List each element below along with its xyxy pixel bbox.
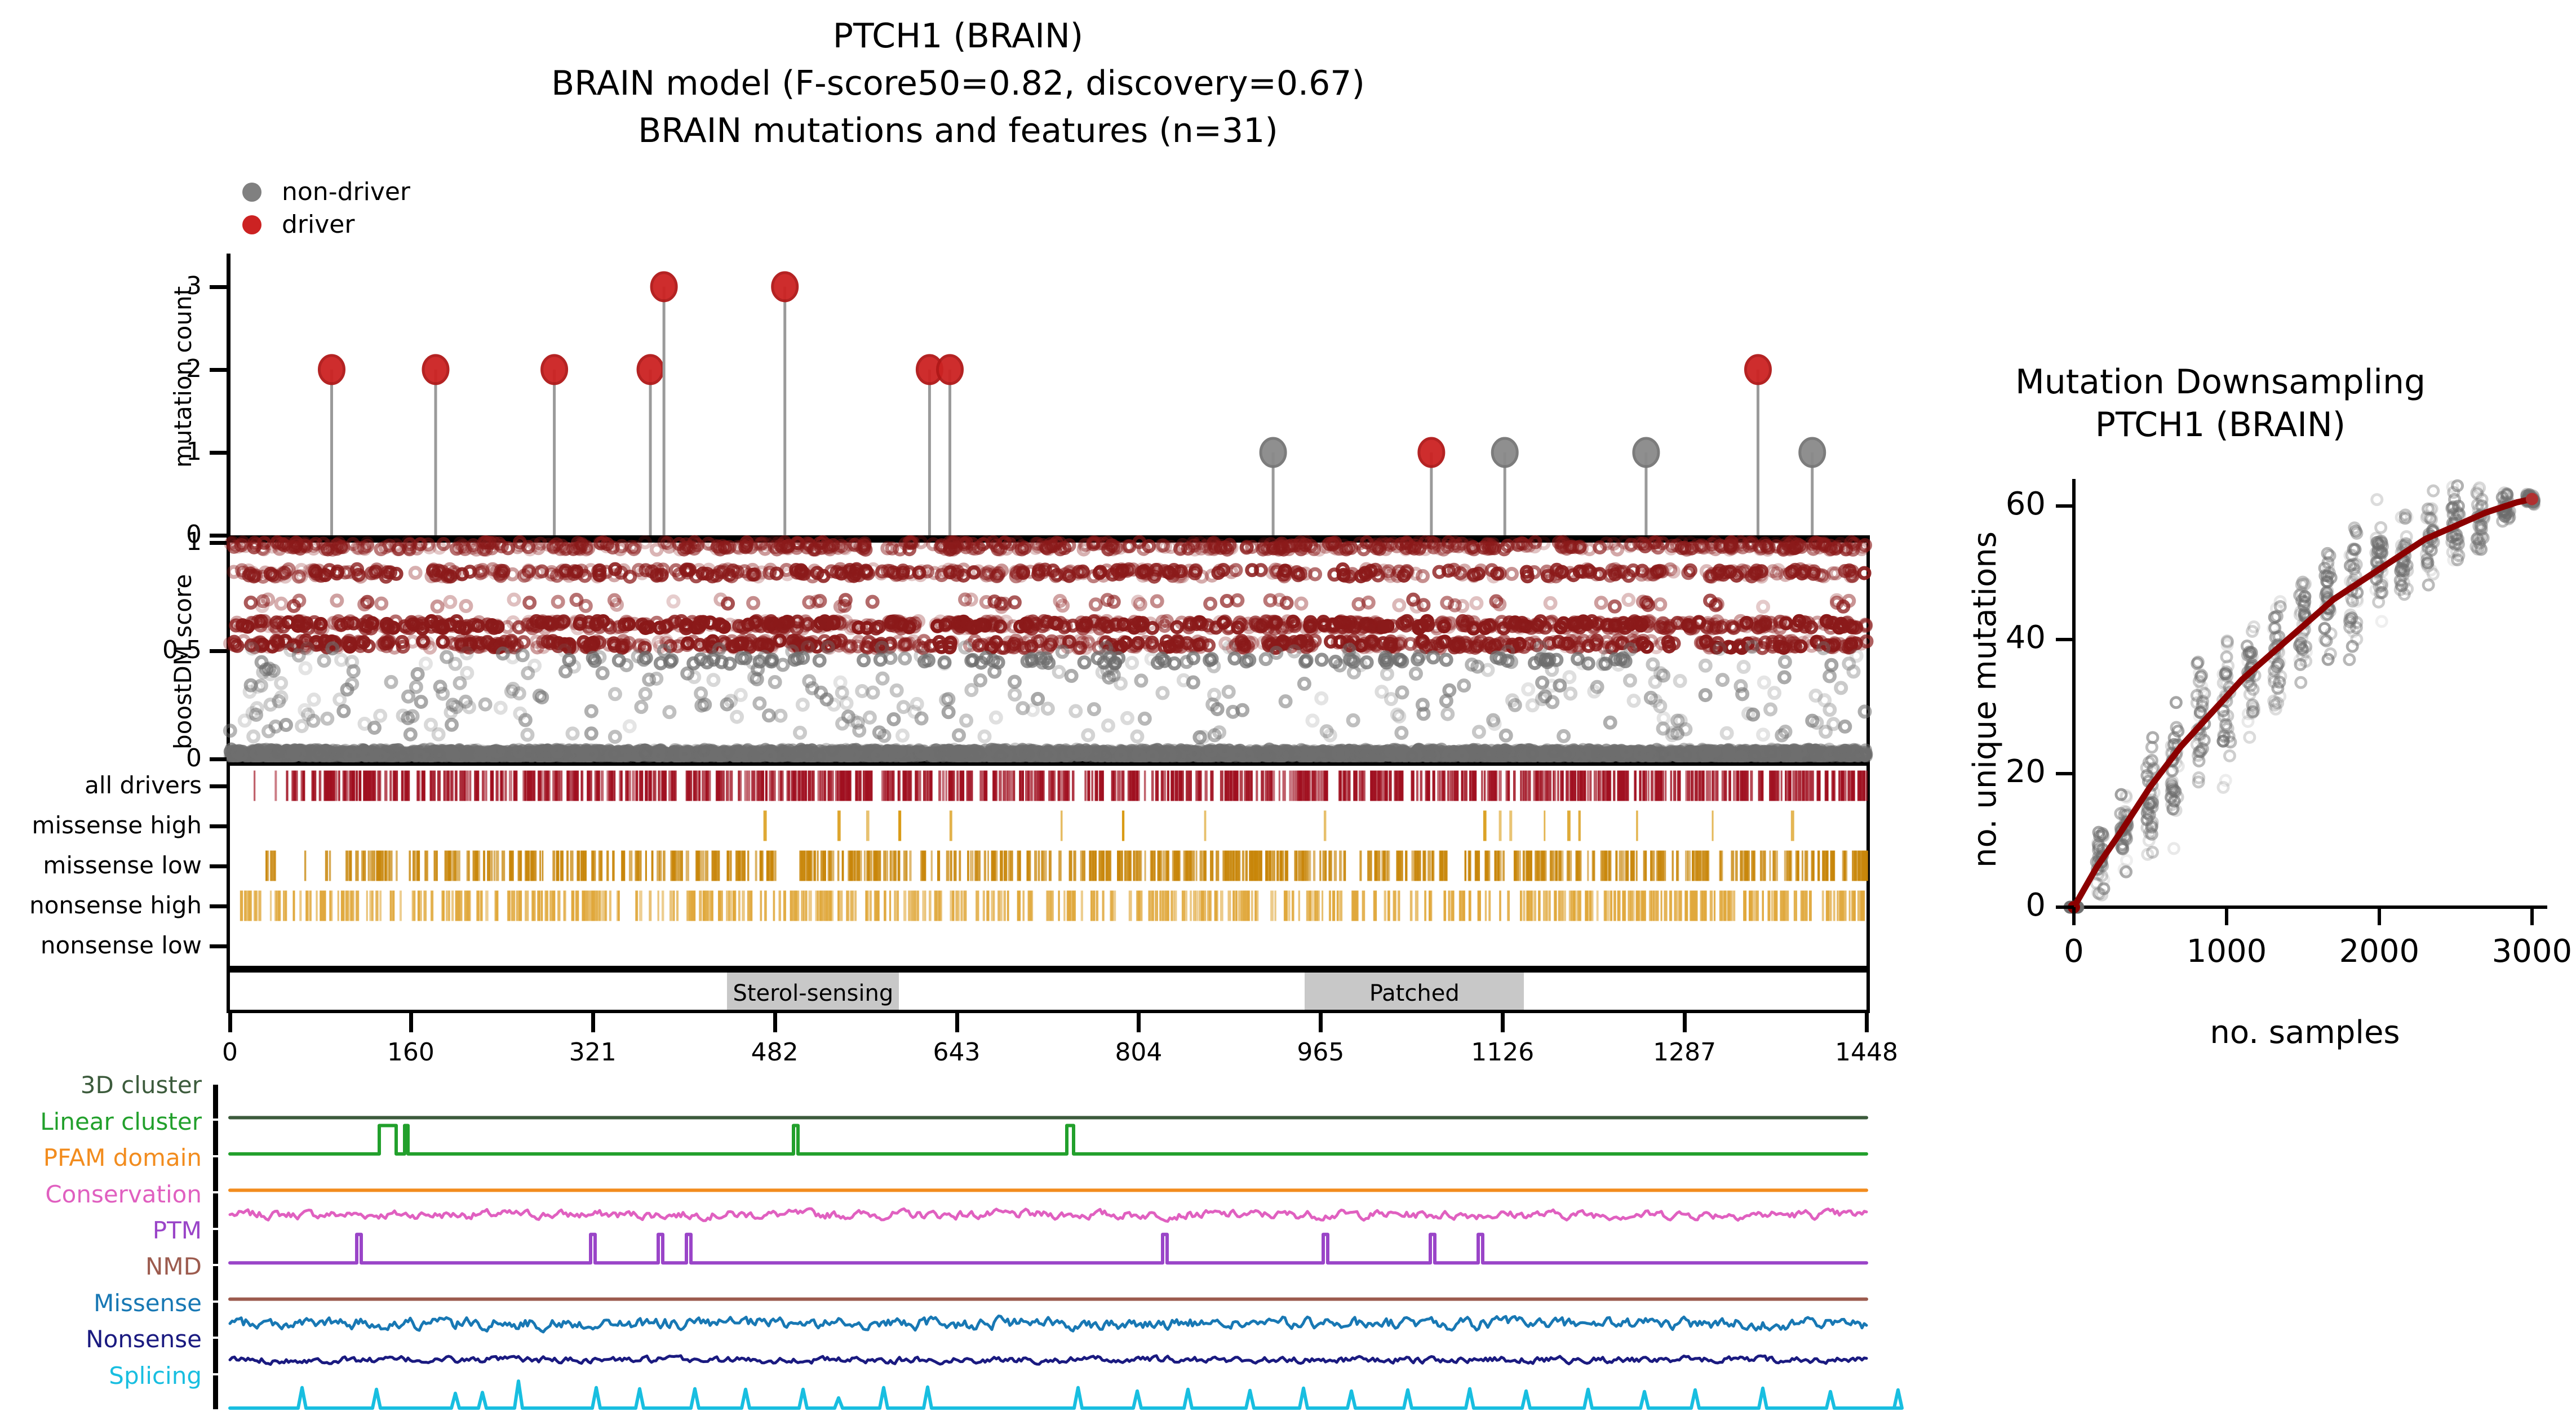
protein-xtick-mark bbox=[1319, 1013, 1323, 1032]
feature-track-spine bbox=[213, 1157, 218, 1191]
mutation-track-label: nonsense high bbox=[23, 891, 202, 919]
downsampling-xtick-mark bbox=[2378, 907, 2381, 925]
feature-track-spine bbox=[213, 1339, 218, 1373]
legend-item-driver: driver bbox=[242, 210, 354, 239]
legend-marker-non-driver bbox=[242, 183, 261, 202]
legend-item-non-driver: non-driver bbox=[242, 177, 410, 206]
boostdm-scatter-plot bbox=[230, 543, 1866, 759]
protein-xtick-mark bbox=[1683, 1013, 1687, 1032]
feature-track-spine bbox=[213, 1375, 218, 1409]
feature-track-label: Missense bbox=[23, 1289, 202, 1317]
protein-xtick-mark bbox=[409, 1013, 413, 1032]
feature-track-label: PFAM domain bbox=[23, 1144, 202, 1171]
downsampling-ytick-mark bbox=[2056, 504, 2074, 508]
downsampling-xlabel: no. samples bbox=[2051, 1014, 2559, 1051]
downsampling-ylabel: no. unique mutations bbox=[1967, 531, 2003, 868]
feature-track-label: PTM bbox=[23, 1217, 202, 1244]
protein-xtick-mark bbox=[1865, 1013, 1869, 1032]
downsampling-xtick-label: 1000 bbox=[2142, 933, 2311, 970]
feature-track-spine bbox=[213, 1266, 218, 1300]
downsampling-ytick-label: 60 bbox=[1950, 486, 2046, 522]
protein-schematic-box bbox=[227, 969, 1870, 1013]
downsampling-ytick-mark bbox=[2056, 905, 2074, 909]
lollipop-ytick-mark bbox=[210, 368, 227, 372]
protein-xtick-mark bbox=[773, 1013, 777, 1032]
feature-track-spine bbox=[213, 1085, 218, 1118]
downsampling-xtick-mark bbox=[2530, 907, 2534, 925]
protein-xtick-label: 1448 bbox=[1799, 1038, 1934, 1067]
downsampling-xtick-label: 3000 bbox=[2448, 933, 2576, 970]
downsampling-ytick-mark bbox=[2056, 772, 2074, 775]
protein-xtick-label: 1126 bbox=[1435, 1038, 1570, 1067]
feature-track-label: Splicing bbox=[23, 1362, 202, 1390]
protein-domain-label: Sterol-sensing bbox=[727, 980, 899, 1006]
downsampling-ytick-label: 40 bbox=[1950, 619, 2046, 656]
protein-xtick-label: 965 bbox=[1253, 1038, 1388, 1067]
scatter-ytick-mark bbox=[210, 757, 227, 761]
lollipop-ytick-label: 3 bbox=[169, 272, 202, 300]
lollipop-ytick-label: 2 bbox=[169, 354, 202, 383]
feature-track-spine bbox=[213, 1303, 218, 1337]
feature-track-spine bbox=[213, 1230, 218, 1264]
mutation-track-tick bbox=[210, 904, 227, 908]
right-panel-title: Mutation Downsampling PTCH1 (BRAIN) bbox=[1939, 361, 2502, 446]
downsampling-plot bbox=[2040, 468, 2559, 975]
lollipop-ytick-mark bbox=[210, 534, 227, 538]
downsampling-xtick-mark bbox=[2072, 907, 2076, 925]
protein-xtick-label: 482 bbox=[707, 1038, 843, 1067]
protein-xtick-mark bbox=[591, 1013, 595, 1032]
protein-xtick-label: 804 bbox=[1071, 1038, 1206, 1067]
feature-track-label: 3D cluster bbox=[23, 1071, 202, 1099]
mutation-track-tick bbox=[210, 824, 227, 828]
mutation-tracks-plot bbox=[230, 766, 1866, 966]
protein-xtick-label: 321 bbox=[525, 1038, 660, 1067]
protein-xtick-mark bbox=[1137, 1013, 1141, 1032]
feature-track-label: Conservation bbox=[23, 1180, 202, 1208]
legend-marker-driver bbox=[242, 215, 261, 234]
protein-xtick-label: 1287 bbox=[1617, 1038, 1752, 1067]
feature-track-spine bbox=[213, 1121, 218, 1155]
lollipop-ytick-mark bbox=[210, 285, 227, 289]
downsampling-ytick-mark bbox=[2056, 638, 2074, 641]
protein-xtick-mark bbox=[955, 1013, 959, 1032]
mutation-track-tick bbox=[210, 864, 227, 868]
lollipop-plot bbox=[230, 254, 1870, 541]
feature-tracks-plot bbox=[230, 1085, 1866, 1411]
lollipop-ytick-label: 1 bbox=[169, 437, 202, 466]
scatter-ytick-label: 0 bbox=[141, 744, 202, 773]
mutation-track-tick bbox=[210, 944, 227, 948]
mutation-track-label: all drivers bbox=[23, 771, 202, 799]
legend-label-non-driver: non-driver bbox=[282, 177, 410, 206]
protein-xtick-label: 643 bbox=[889, 1038, 1025, 1067]
feature-track-label: Nonsense bbox=[23, 1325, 202, 1353]
legend-label-driver: driver bbox=[282, 210, 354, 239]
downsampling-xtick-label: 0 bbox=[1989, 933, 2158, 970]
feature-track-spine bbox=[213, 1193, 218, 1227]
protein-xtick-label: 160 bbox=[343, 1038, 478, 1067]
downsampling-xtick-mark bbox=[2225, 907, 2228, 925]
scatter-ytick-mark bbox=[210, 649, 227, 653]
lollipop-left-spine bbox=[227, 254, 230, 538]
protein-domain-label: Patched bbox=[1305, 980, 1524, 1006]
scatter-ytick-label: 1 bbox=[141, 527, 202, 556]
downsampling-ytick-label: 20 bbox=[1950, 753, 2046, 790]
mutation-track-label: missense low bbox=[23, 851, 202, 879]
feature-track-label: Linear cluster bbox=[23, 1108, 202, 1135]
scatter-ytick-label: 0.5 bbox=[141, 636, 202, 664]
mutation-track-label: nonsense low bbox=[23, 931, 202, 959]
downsampling-ytick-label: 0 bbox=[1950, 887, 2046, 924]
lollipop-ytick-mark bbox=[210, 451, 227, 455]
scatter-ytick-mark bbox=[210, 541, 227, 545]
protein-xtick-mark bbox=[1501, 1013, 1505, 1032]
protein-xtick-label: 0 bbox=[162, 1038, 298, 1067]
mutation-track-label: missense high bbox=[23, 811, 202, 839]
feature-track-label: NMD bbox=[23, 1253, 202, 1280]
mutation-track-tick bbox=[210, 784, 227, 788]
protein-xtick-mark bbox=[228, 1013, 232, 1032]
left-panel-title: PTCH1 (BRAIN) BRAIN model (F-score50=0.8… bbox=[0, 12, 1916, 154]
downsampling-xtick-label: 2000 bbox=[2295, 933, 2464, 970]
